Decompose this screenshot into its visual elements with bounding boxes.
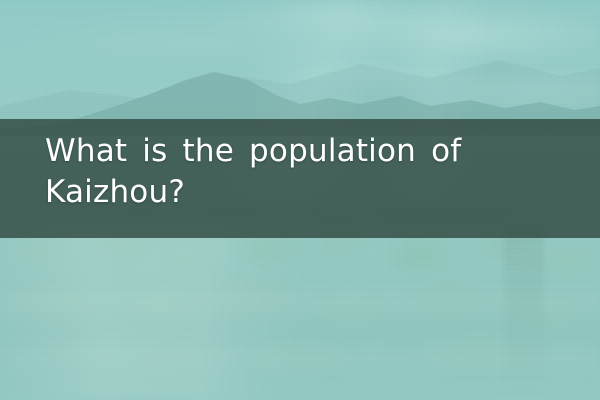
screenshot-root: What is the population of Kaizhou? [0,0,600,400]
caption-question-text: What is the population of Kaizhou? [45,131,565,213]
